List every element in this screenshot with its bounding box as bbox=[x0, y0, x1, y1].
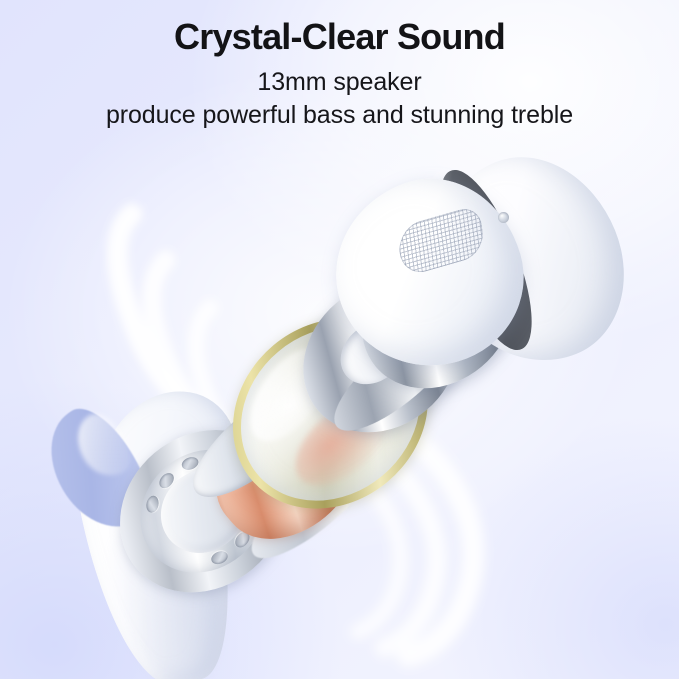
headline-block: Crystal-Clear Sound 13mm speaker produce… bbox=[0, 0, 679, 133]
product-banner: Crystal-Clear Sound 13mm speaker produce… bbox=[0, 0, 679, 679]
sensor-dot-icon bbox=[498, 212, 509, 223]
subtitle-line-2: produce powerful bass and stunning trebl… bbox=[0, 99, 679, 133]
page-title: Crystal-Clear Sound bbox=[0, 0, 679, 57]
subtitle-line-1: 13mm speaker bbox=[0, 57, 679, 100]
ear-tip bbox=[330, 150, 630, 420]
